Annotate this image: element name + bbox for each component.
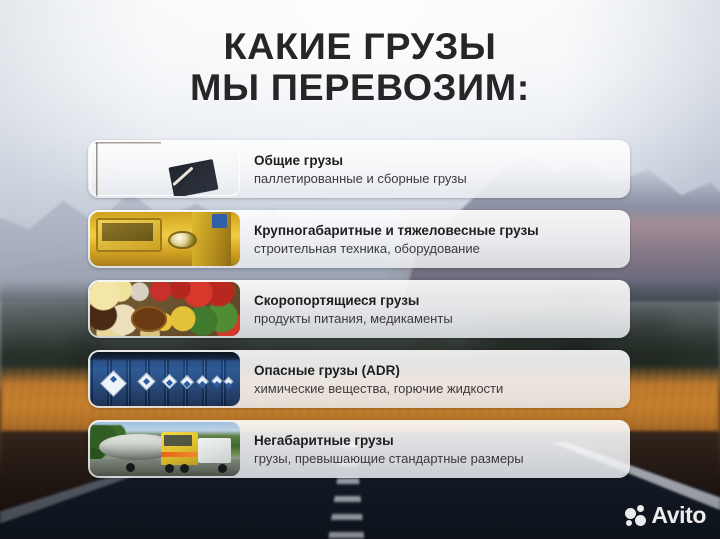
page-title: КАКИЕ ГРУЗЫ МЫ ПЕРЕВОЗИМ: bbox=[0, 26, 720, 108]
second-truck bbox=[198, 438, 231, 463]
cargo-subtitle: паллетированные и сборные грузы bbox=[254, 170, 618, 187]
nuts-bowl-icon bbox=[131, 306, 167, 332]
cargo-title: Негабаритные грузы bbox=[254, 432, 618, 449]
cargo-text-block: Опасные грузы (ADR) химические вещества,… bbox=[240, 350, 630, 408]
cargo-type-list: Общие грузы паллетированные и сборные гр… bbox=[88, 140, 630, 478]
page-title-line-1: КАКИЕ ГРУЗЫ bbox=[0, 26, 720, 67]
cargo-subtitle: строительная техника, оборудование bbox=[254, 240, 618, 257]
truck-windshield bbox=[164, 435, 193, 446]
list-item[interactable]: Крупногабаритные и тяжеловесные грузы ст… bbox=[88, 210, 630, 268]
machine-headlamp-icon bbox=[168, 231, 197, 249]
machine-window bbox=[102, 223, 153, 241]
avito-watermark: Avito bbox=[625, 504, 706, 527]
cargo-title: Крупногабаритные и тяжеловесные грузы bbox=[254, 222, 618, 239]
machine-blue-part bbox=[212, 214, 227, 228]
cargo-subtitle: грузы, превышающие стандартные размеры bbox=[254, 450, 618, 467]
cargo-thumbnail-oversize bbox=[90, 422, 240, 476]
cargo-title: Скоропортящиеся грузы bbox=[254, 292, 618, 309]
cargo-text-block: Общие грузы паллетированные и сборные гр… bbox=[240, 140, 630, 198]
cargo-title: Опасные грузы (ADR) bbox=[254, 362, 618, 379]
page-title-line-2: МЫ ПЕРЕВОЗИМ: bbox=[0, 67, 720, 108]
list-item[interactable]: Опасные грузы (ADR) химические вещества,… bbox=[88, 350, 630, 408]
cargo-thumbnail-dangerous-adr bbox=[90, 352, 240, 406]
cargo-text-block: Скоропортящиеся грузы продукты питания, … bbox=[240, 280, 630, 338]
oversize-tank-truck-icon bbox=[90, 422, 240, 476]
yellow-heavy-machinery-icon bbox=[90, 212, 240, 266]
drum-shadow-top bbox=[90, 352, 240, 361]
list-item[interactable]: Скоропортящиеся грузы продукты питания, … bbox=[88, 280, 630, 338]
fresh-food-produce-icon bbox=[90, 282, 240, 336]
produce-mosaic bbox=[90, 282, 240, 336]
cargo-thumbnail-oversized-heavy bbox=[90, 212, 240, 266]
cargo-title: Общие грузы bbox=[254, 152, 618, 169]
avito-dot bbox=[626, 520, 632, 526]
cargo-text-block: Негабаритные грузы грузы, превышающие ст… bbox=[240, 420, 630, 478]
truck-wheel bbox=[165, 464, 174, 473]
avito-dot bbox=[635, 515, 646, 526]
list-item[interactable]: Общие грузы паллетированные и сборные гр… bbox=[88, 140, 630, 198]
cargo-thumbnail-general bbox=[90, 142, 240, 196]
cardboard-boxes-worker-icon bbox=[90, 142, 240, 196]
avito-dot bbox=[637, 505, 644, 512]
cargo-subtitle: продукты питания, медикаменты bbox=[254, 310, 618, 327]
blue-chemical-drums-icon bbox=[90, 352, 240, 406]
list-item[interactable]: Негабаритные грузы грузы, превышающие ст… bbox=[88, 420, 630, 478]
truck-wheel bbox=[180, 464, 189, 473]
cargo-thumbnail-perishable bbox=[90, 282, 240, 336]
poster-canvas: КАКИЕ ГРУЗЫ МЫ ПЕРЕВОЗИМ: Общие грузы па… bbox=[0, 0, 720, 539]
box-seam-lines bbox=[90, 142, 161, 196]
cargo-text-block: Крупногабаритные и тяжеловесные грузы ст… bbox=[240, 210, 630, 268]
cargo-subtitle: химические вещества, горючие жидкости bbox=[254, 380, 618, 397]
avito-dots-logo-icon bbox=[625, 505, 646, 526]
second-truck-wheel bbox=[218, 464, 227, 473]
avito-brand-text: Avito bbox=[651, 504, 706, 527]
clipboard-icon bbox=[168, 159, 218, 196]
truck-orange-stripe bbox=[161, 452, 199, 456]
